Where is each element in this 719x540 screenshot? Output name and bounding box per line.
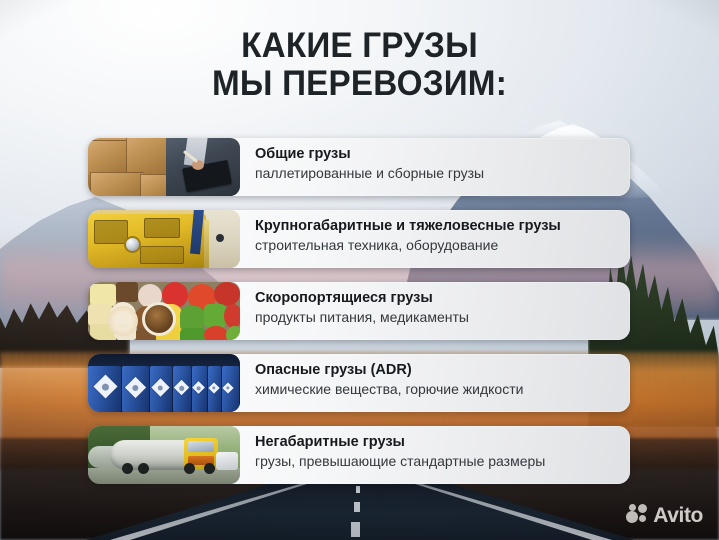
- list-item[interactable]: Скоропортящиеся грузы продукты питания, …: [88, 282, 630, 340]
- list-item[interactable]: Крупногабаритные и тяжеловесные грузы ст…: [88, 210, 630, 268]
- list-item-text: Негабаритные грузы грузы, превышающие ст…: [240, 426, 630, 484]
- page-title: КАКИЕ ГРУЗЫ МЫ ПЕРЕВОЗИМ:: [18, 27, 701, 103]
- avito-dots-logo-icon: [626, 504, 648, 526]
- list-item[interactable]: Общие грузы паллетированные и сборные гр…: [88, 138, 630, 196]
- list-item-subtitle: продукты питания, медикаменты: [255, 308, 616, 327]
- road-center-dash: [356, 486, 360, 493]
- list-item-text: Скоропортящиеся грузы продукты питания, …: [240, 282, 630, 340]
- list-item[interactable]: Негабаритные грузы грузы, превышающие ст…: [88, 426, 630, 484]
- promo-poster: КАКИЕ ГРУЗЫ МЫ ПЕРЕВОЗИМ: Общие грузы па…: [0, 0, 719, 540]
- cargo-type-list: Общие грузы паллетированные и сборные гр…: [88, 138, 630, 484]
- list-item[interactable]: Опасные грузы (ADR) химические вещества,…: [88, 354, 630, 412]
- list-item-subtitle: паллетированные и сборные грузы: [255, 164, 616, 183]
- list-item-subtitle: строительная техника, оборудование: [255, 236, 616, 255]
- hazard-barrels-icon: [88, 354, 240, 412]
- list-item-subtitle: химические вещества, горючие жидкости: [255, 380, 616, 399]
- list-item-subtitle: грузы, превышающие стандартные размеры: [255, 452, 616, 471]
- list-item-title: Негабаритные грузы: [255, 433, 616, 452]
- avito-watermark: Avito: [626, 504, 703, 526]
- list-item-title: Опасные грузы (ADR): [255, 361, 616, 380]
- heavy-machinery-icon: [88, 210, 240, 268]
- avito-wordmark: Avito: [653, 505, 703, 526]
- fresh-food-icon: [88, 282, 240, 340]
- list-item-title: Крупногабаритные и тяжеловесные грузы: [255, 217, 616, 236]
- list-item-text: Общие грузы паллетированные и сборные гр…: [240, 138, 630, 196]
- cardboard-boxes-icon: [88, 138, 240, 196]
- road-center-dash: [351, 522, 360, 537]
- list-item-text: Опасные грузы (ADR) химические вещества,…: [240, 354, 630, 412]
- list-item-title: Скоропортящиеся грузы: [255, 289, 616, 308]
- oversize-truck-icon: [88, 426, 240, 484]
- road-center-dash: [354, 502, 360, 512]
- list-item-text: Крупногабаритные и тяжеловесные грузы ст…: [240, 210, 630, 268]
- list-item-title: Общие грузы: [255, 145, 616, 164]
